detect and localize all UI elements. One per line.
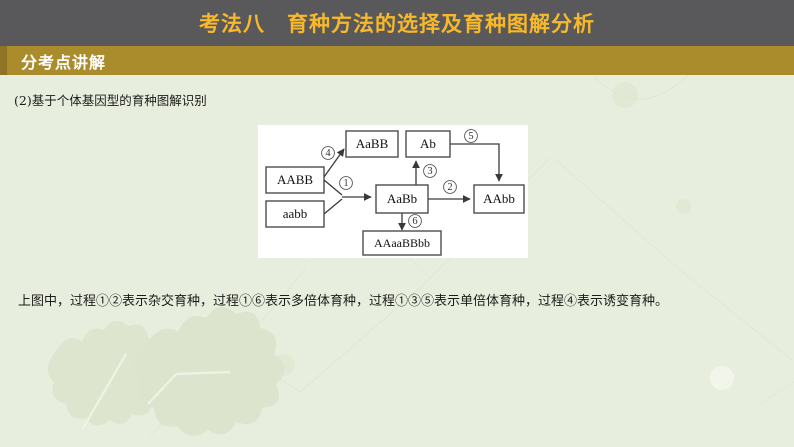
leaf-decor <box>140 328 232 405</box>
section-label: 分考点讲解 <box>21 49 106 73</box>
node-aabb-hetero: AaBB <box>346 131 398 157</box>
svg-text:6: 6 <box>412 216 417 227</box>
conclusion-paragraph: 上图中，过程①②表示杂交育种，过程①⑥表示多倍体育种，过程①③⑤表示单倍体育种，… <box>18 288 782 315</box>
leaf-decor <box>48 321 169 430</box>
process-label-5: 5 <box>465 130 478 143</box>
svg-text:4: 4 <box>325 148 331 159</box>
breeding-diagram-panel: AABB aabb AaBB Ab AaBb AAbb <box>258 125 528 258</box>
node-aabb-double: AAbb <box>474 185 524 213</box>
svg-text:5: 5 <box>468 131 473 142</box>
process-label-4: 4 <box>322 147 335 160</box>
node-aabb-lower: aabb <box>266 201 324 227</box>
bg-circle-decor <box>271 355 291 375</box>
svg-text:1: 1 <box>343 178 348 189</box>
bg-circle-decor <box>710 366 734 390</box>
svg-text:2: 2 <box>447 182 452 193</box>
bg-circle-decor <box>273 354 295 376</box>
section-header-bar: 分考点讲解 <box>0 46 794 75</box>
leaf-decor <box>133 307 285 436</box>
breeding-diagram-svg: AABB aabb AaBB Ab AaBb AAbb <box>258 125 528 258</box>
node-label: AaBb <box>387 191 417 206</box>
edge-aabb-lower-to-junction <box>324 199 342 214</box>
process-label-6: 6 <box>409 215 422 228</box>
bg-circle-decor <box>612 82 638 108</box>
process-label-2: 2 <box>444 181 457 194</box>
node-label: aabb <box>283 206 308 221</box>
node-aaaabbbb: AAaaBBbb <box>363 231 441 255</box>
process-label-3: 3 <box>424 165 437 178</box>
edge-ab-to-double <box>450 144 499 181</box>
node-label: AaBB <box>356 136 389 151</box>
bg-circle-decor <box>676 199 691 214</box>
node-label: AAbb <box>483 191 515 206</box>
slide-title-bar: 考法八 育种方法的选择及育种图解分析 <box>0 0 794 46</box>
process-label-1: 1 <box>340 177 353 190</box>
node-aabb-parent: AABB <box>266 167 324 193</box>
page-title: 考法八 育种方法的选择及育种图解分析 <box>0 0 794 46</box>
lead-paragraph: (2)基于个体基因型的育种图解识别 <box>14 92 207 110</box>
node-ab-haploid: Ab <box>406 131 450 157</box>
node-label: AAaaBBbb <box>374 236 430 250</box>
node-label: Ab <box>420 136 436 151</box>
node-aabb-f1: AaBb <box>376 185 428 213</box>
svg-text:3: 3 <box>427 166 432 177</box>
slide-canvas: 考法八 育种方法的选择及育种图解分析 分考点讲解 (2)基于个体基因型的育种图解… <box>0 0 794 447</box>
node-label: AABB <box>277 172 313 187</box>
